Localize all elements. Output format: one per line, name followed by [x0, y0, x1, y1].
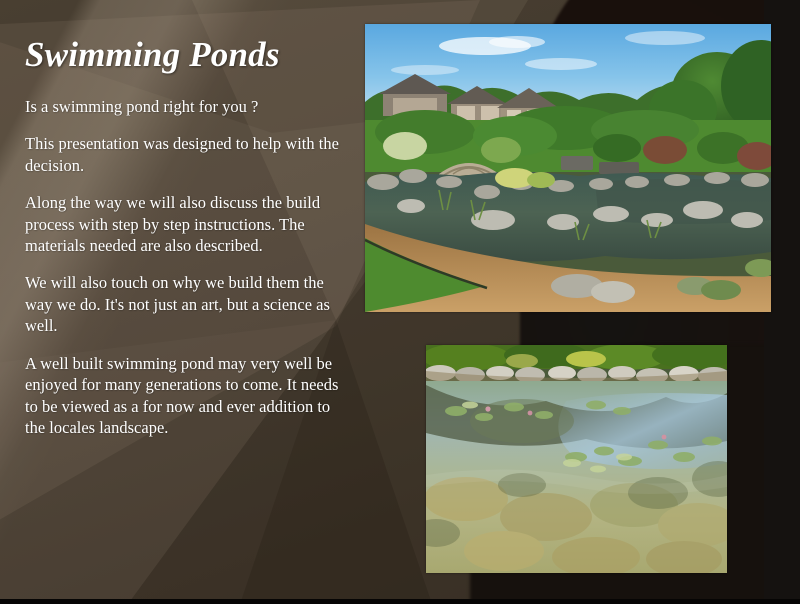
pond-water-closeup-photo — [426, 345, 727, 573]
pond-overview-photo — [365, 24, 771, 312]
slide-title: Swimming Ponds — [25, 36, 347, 74]
slide-paragraph-2: This presentation was designed to help w… — [25, 133, 347, 176]
slide-text-column: Swimming Ponds Is a swimming pond right … — [25, 36, 347, 438]
presentation-slide: Swimming Ponds Is a swimming pond right … — [0, 0, 800, 604]
slide-paragraph-5: A well built swimming pond may very well… — [25, 353, 347, 439]
slide-paragraph-1: Is a swimming pond right for you ? — [25, 96, 347, 117]
slide-bottom-border — [0, 599, 800, 604]
slide-paragraph-3: Along the way we will also discuss the b… — [25, 192, 347, 256]
slide-paragraph-4: We will also touch on why we build them … — [25, 272, 347, 336]
